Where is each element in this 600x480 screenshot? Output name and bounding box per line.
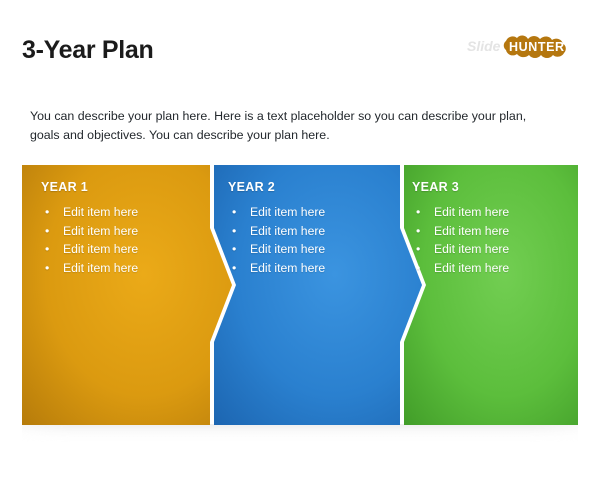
list-item-label: Edit item here: [250, 261, 325, 275]
panel-year-1-content: YEAR 1 •Edit item here •Edit item here •…: [41, 180, 138, 277]
list-item[interactable]: •Edit item here: [412, 259, 509, 278]
bullet-icon: •: [232, 240, 236, 259]
list-item[interactable]: •Edit item here: [41, 222, 138, 241]
list-item-label: Edit item here: [434, 205, 509, 219]
list-item[interactable]: •Edit item here: [412, 203, 509, 222]
list-item-label: Edit item here: [434, 261, 509, 275]
bullet-icon: •: [232, 203, 236, 222]
list-item[interactable]: •Edit item here: [41, 240, 138, 259]
list-item[interactable]: •Edit item here: [41, 259, 138, 278]
bullet-icon: •: [45, 203, 49, 222]
panel-year-2-list: •Edit item here •Edit item here •Edit it…: [228, 203, 325, 277]
bullet-icon: •: [416, 222, 420, 241]
list-item-label: Edit item here: [250, 224, 325, 238]
list-item-label: Edit item here: [434, 242, 509, 256]
list-item-label: Edit item here: [63, 242, 138, 256]
bullet-icon: •: [416, 240, 420, 259]
list-item[interactable]: •Edit item here: [228, 222, 325, 241]
list-item-label: Edit item here: [434, 224, 509, 238]
list-item-label: Edit item here: [250, 242, 325, 256]
list-item[interactable]: •Edit item here: [228, 259, 325, 278]
panel-year-3-title: YEAR 3: [412, 180, 509, 194]
list-item-label: Edit item here: [63, 224, 138, 238]
diagram-shadow: [22, 424, 578, 444]
list-item[interactable]: •Edit item here: [228, 240, 325, 259]
bullet-icon: •: [232, 259, 236, 278]
panel-year-2-content: YEAR 2 •Edit item here •Edit item here •…: [228, 180, 325, 277]
list-item-label: Edit item here: [63, 205, 138, 219]
panel-year-1-title: YEAR 1: [41, 180, 138, 194]
list-item[interactable]: •Edit item here: [41, 203, 138, 222]
panel-year-1-list: •Edit item here •Edit item here •Edit it…: [41, 203, 138, 277]
list-item-label: Edit item here: [63, 261, 138, 275]
list-item-label: Edit item here: [250, 205, 325, 219]
bullet-icon: •: [416, 259, 420, 278]
panel-year-2-title: YEAR 2: [228, 180, 325, 194]
list-item[interactable]: •Edit item here: [412, 240, 509, 259]
list-item[interactable]: •Edit item here: [228, 203, 325, 222]
list-item[interactable]: •Edit item here: [412, 222, 509, 241]
bullet-icon: •: [45, 259, 49, 278]
panel-year-3-list: •Edit item here •Edit item here •Edit it…: [412, 203, 509, 277]
panel-year-3-content: YEAR 3 •Edit item here •Edit item here •…: [412, 180, 509, 277]
bullet-icon: •: [45, 222, 49, 241]
bullet-icon: •: [416, 203, 420, 222]
bullet-icon: •: [45, 240, 49, 259]
bullet-icon: •: [232, 222, 236, 241]
